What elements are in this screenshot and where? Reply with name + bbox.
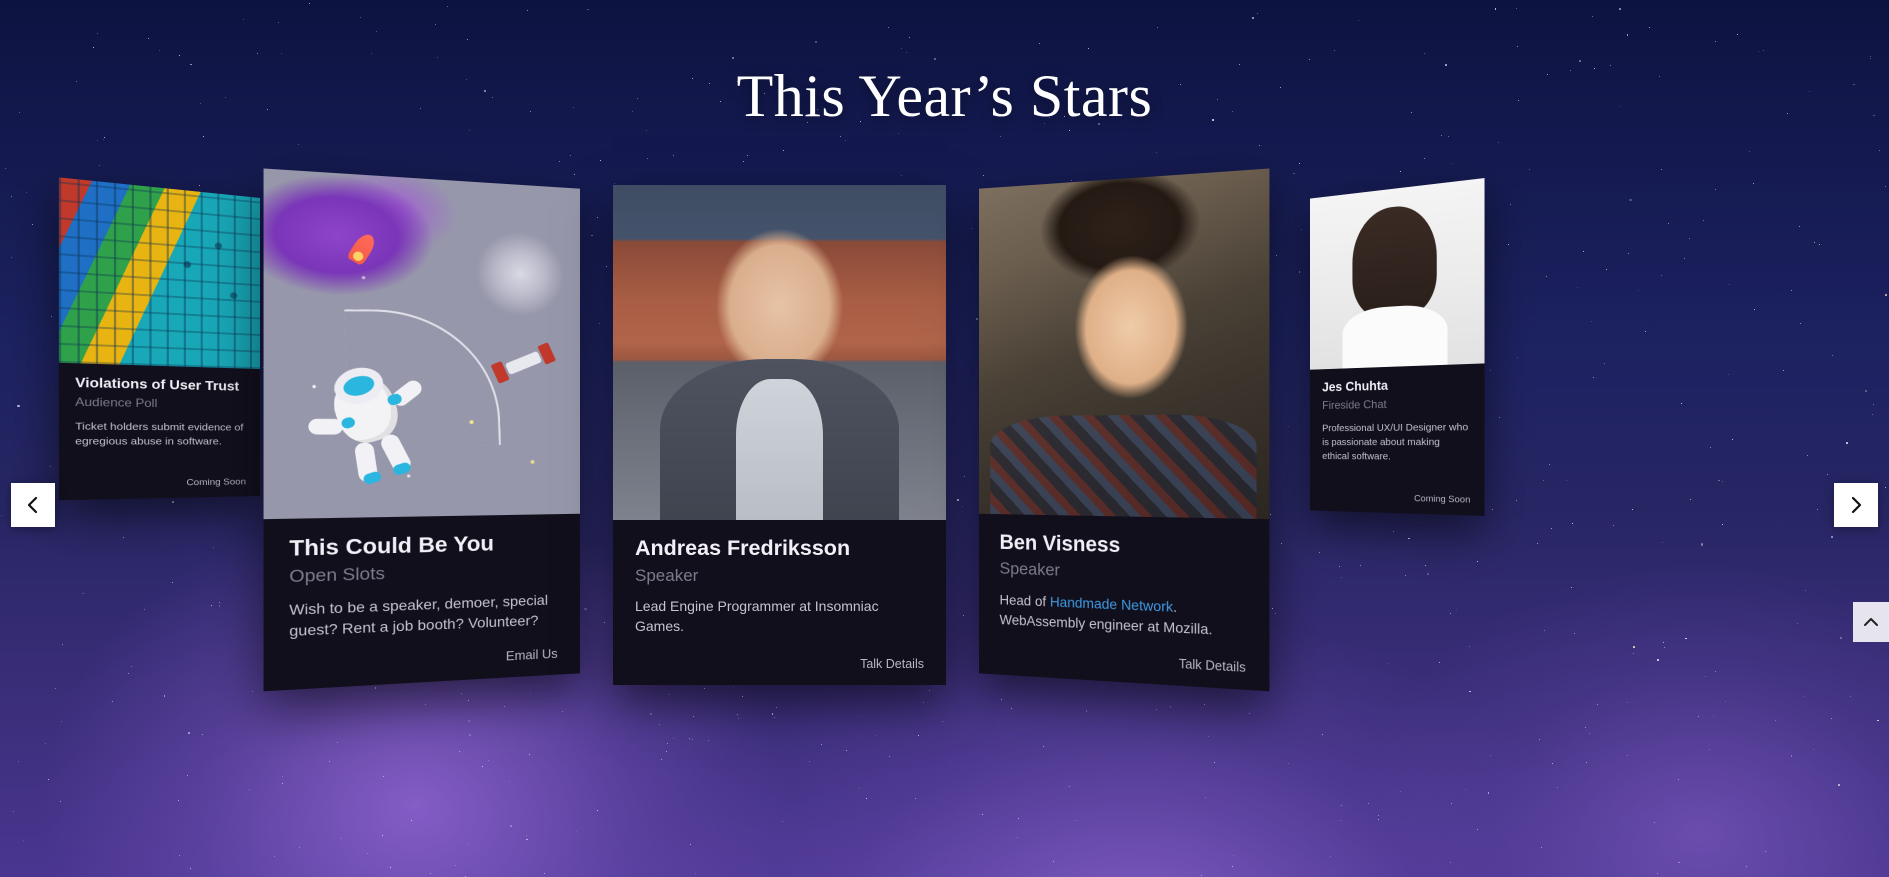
chevron-left-icon xyxy=(23,495,43,515)
speaker-card-cta[interactable]: Talk Details xyxy=(1000,647,1246,675)
rocket-icon xyxy=(347,231,379,266)
speaker-card-title: This Could Be You xyxy=(289,530,557,562)
speaker-card-cta[interactable]: Talk Details xyxy=(635,657,924,671)
tech-collage-image xyxy=(59,177,260,369)
astronaut-illustration-image xyxy=(264,168,580,519)
speaker-card-description: Head of Handmade Network. WebAssembly en… xyxy=(1000,589,1246,641)
speaker-portrait-image xyxy=(1310,178,1485,370)
chevron-up-icon xyxy=(1862,613,1880,631)
speaker-card-title: Violations of User Trust xyxy=(75,375,246,395)
carousel-prev-button[interactable] xyxy=(11,483,55,527)
speaker-card-body: Andreas Fredriksson Speaker Lead Engine … xyxy=(613,520,946,685)
speaker-card-body: Violations of User Trust Audience Poll T… xyxy=(59,363,260,501)
astronaut-icon xyxy=(287,352,449,499)
speaker-portrait-image xyxy=(613,185,946,520)
scroll-to-top-button[interactable] xyxy=(1853,602,1889,642)
speaker-card-description: Ticket holders submit evidence of egregi… xyxy=(75,419,246,449)
speaker-card-role: Open Slots xyxy=(289,559,557,588)
speaker-card-role: Speaker xyxy=(635,566,924,586)
speaker-card-body: Jes Chuhta Fireside Chat Professional UX… xyxy=(1310,363,1485,516)
speaker-card-body: This Could Be You Open Slots Wish to be … xyxy=(264,514,580,692)
speaker-card-cta[interactable]: Coming Soon xyxy=(75,477,246,490)
speaker-card[interactable]: This Could Be You Open Slots Wish to be … xyxy=(264,168,580,691)
carousel-next-button[interactable] xyxy=(1834,483,1878,527)
speaker-card-cta[interactable]: Email Us xyxy=(289,647,557,675)
speaker-card-body: Ben Visness Speaker Head of Handmade Net… xyxy=(979,514,1269,692)
speaker-card-description: Wish to be a speaker, demoer, special gu… xyxy=(289,589,557,641)
speaker-card[interactable]: Andreas Fredriksson Speaker Lead Engine … xyxy=(613,185,946,685)
speaker-card-description: Professional UX/UI Designer who is passi… xyxy=(1322,420,1470,465)
handmade-network-link[interactable]: Handmade Network xyxy=(1050,593,1173,614)
speaker-card-title: Jes Chuhta xyxy=(1322,376,1470,396)
satellite-icon xyxy=(505,350,542,374)
speaker-card[interactable]: Ben Visness Speaker Head of Handmade Net… xyxy=(979,168,1269,691)
speaker-card-role: Speaker xyxy=(1000,559,1246,588)
speaker-card-title: Ben Visness xyxy=(1000,530,1246,562)
speaker-card-role: Audience Poll xyxy=(75,395,246,412)
speaker-card-title: Andreas Fredriksson xyxy=(635,536,924,562)
page-title: This Year’s Stars xyxy=(0,62,1889,131)
speaker-card[interactable]: Violations of User Trust Audience Poll T… xyxy=(59,177,260,500)
speaker-card-description: Lead Engine Programmer at Insomniac Game… xyxy=(635,596,924,637)
speaker-card-role: Fireside Chat xyxy=(1322,396,1470,413)
chevron-right-icon xyxy=(1846,495,1866,515)
speakers-carousel: Violations of User Trust Audience Poll T… xyxy=(0,185,1889,705)
speaker-portrait-image xyxy=(979,168,1269,519)
speaker-card-cta[interactable]: Coming Soon xyxy=(1322,492,1470,506)
speaker-card[interactable]: Jes Chuhta Fireside Chat Professional UX… xyxy=(1310,178,1485,516)
description-text-before-link: Head of xyxy=(1000,591,1050,609)
page-root: This Year’s Stars Violations of User Tru… xyxy=(0,0,1889,877)
